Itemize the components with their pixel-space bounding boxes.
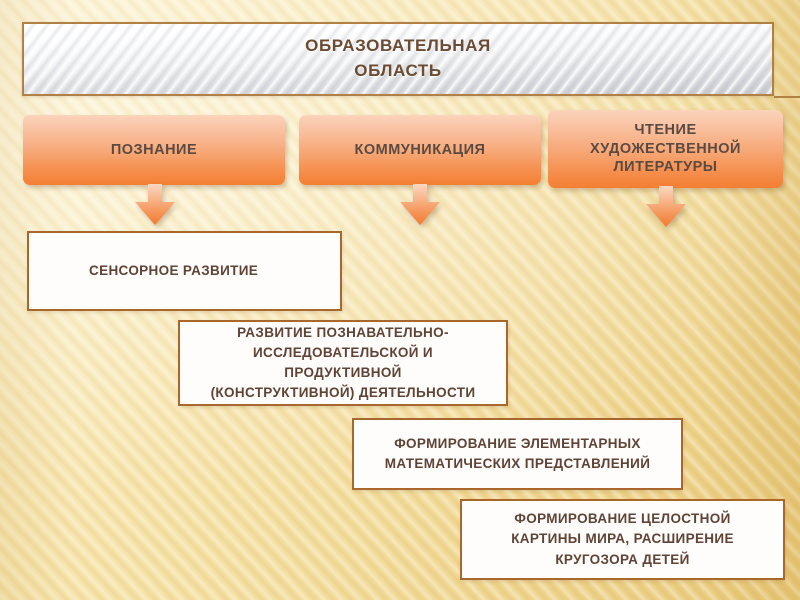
category-label: ПОЗНАНИЕ: [111, 141, 197, 160]
detail-box-poznavatelno-issledovatelskaya[interactable]: РАЗВИТИЕ ПОЗНАВАТЕЛЬНО-ИССЛЕДОВАТЕЛЬСКОЙ…: [178, 320, 508, 406]
page-title: ОБРАЗОВАТЕЛЬНАЯОБЛАСТЬ: [305, 34, 491, 83]
arrow-down-icon: [398, 184, 442, 226]
category-box-poznanie[interactable]: ПОЗНАНИЕ: [23, 115, 285, 185]
detail-box-matematicheskie-predstavleniya[interactable]: ФОРМИРОВАНИЕ ЭЛЕМЕНТАРНЫХМАТЕМАТИЧЕСКИХ …: [352, 418, 683, 490]
detail-label: ФОРМИРОВАНИЕ ЭЛЕМЕНТАРНЫХМАТЕМАТИЧЕСКИХ …: [354, 434, 681, 475]
slide-canvas: ОБРАЗОВАТЕЛЬНАЯОБЛАСТЬ ПОЗНАНИЕ КОММУНИК…: [0, 0, 800, 600]
detail-label: ФОРМИРОВАНИЕ ЦЕЛОСТНОЙКАРТИНЫ МИРА, РАСШ…: [462, 509, 783, 570]
arrow-down-icon: [133, 184, 177, 226]
detail-box-tselostnaya-kartina-mira[interactable]: ФОРМИРОВАНИЕ ЦЕЛОСТНОЙКАРТИНЫ МИРА, РАСШ…: [460, 499, 785, 580]
category-label: ЧТЕНИЕХУДОЖЕСТВЕННОЙЛИТЕРАТУРЫ: [590, 121, 741, 177]
category-box-chtenie-literatury[interactable]: ЧТЕНИЕХУДОЖЕСТВЕННОЙЛИТЕРАТУРЫ: [548, 110, 783, 188]
arrow-down-icon: [644, 186, 688, 228]
category-box-kommunikatsiya[interactable]: КОММУНИКАЦИЯ: [299, 115, 541, 185]
title-connector-line: [774, 96, 800, 98]
detail-box-sensornoe-razvitie[interactable]: СЕНСОРНОЕ РАЗВИТИЕ: [27, 231, 342, 311]
detail-label: СЕНСОРНОЕ РАЗВИТИЕ: [29, 261, 340, 281]
educational-area-title-box: ОБРАЗОВАТЕЛЬНАЯОБЛАСТЬ: [22, 22, 774, 96]
detail-label: РАЗВИТИЕ ПОЗНАВАТЕЛЬНО-ИССЛЕДОВАТЕЛЬСКОЙ…: [180, 323, 506, 404]
category-label: КОММУНИКАЦИЯ: [355, 141, 486, 160]
